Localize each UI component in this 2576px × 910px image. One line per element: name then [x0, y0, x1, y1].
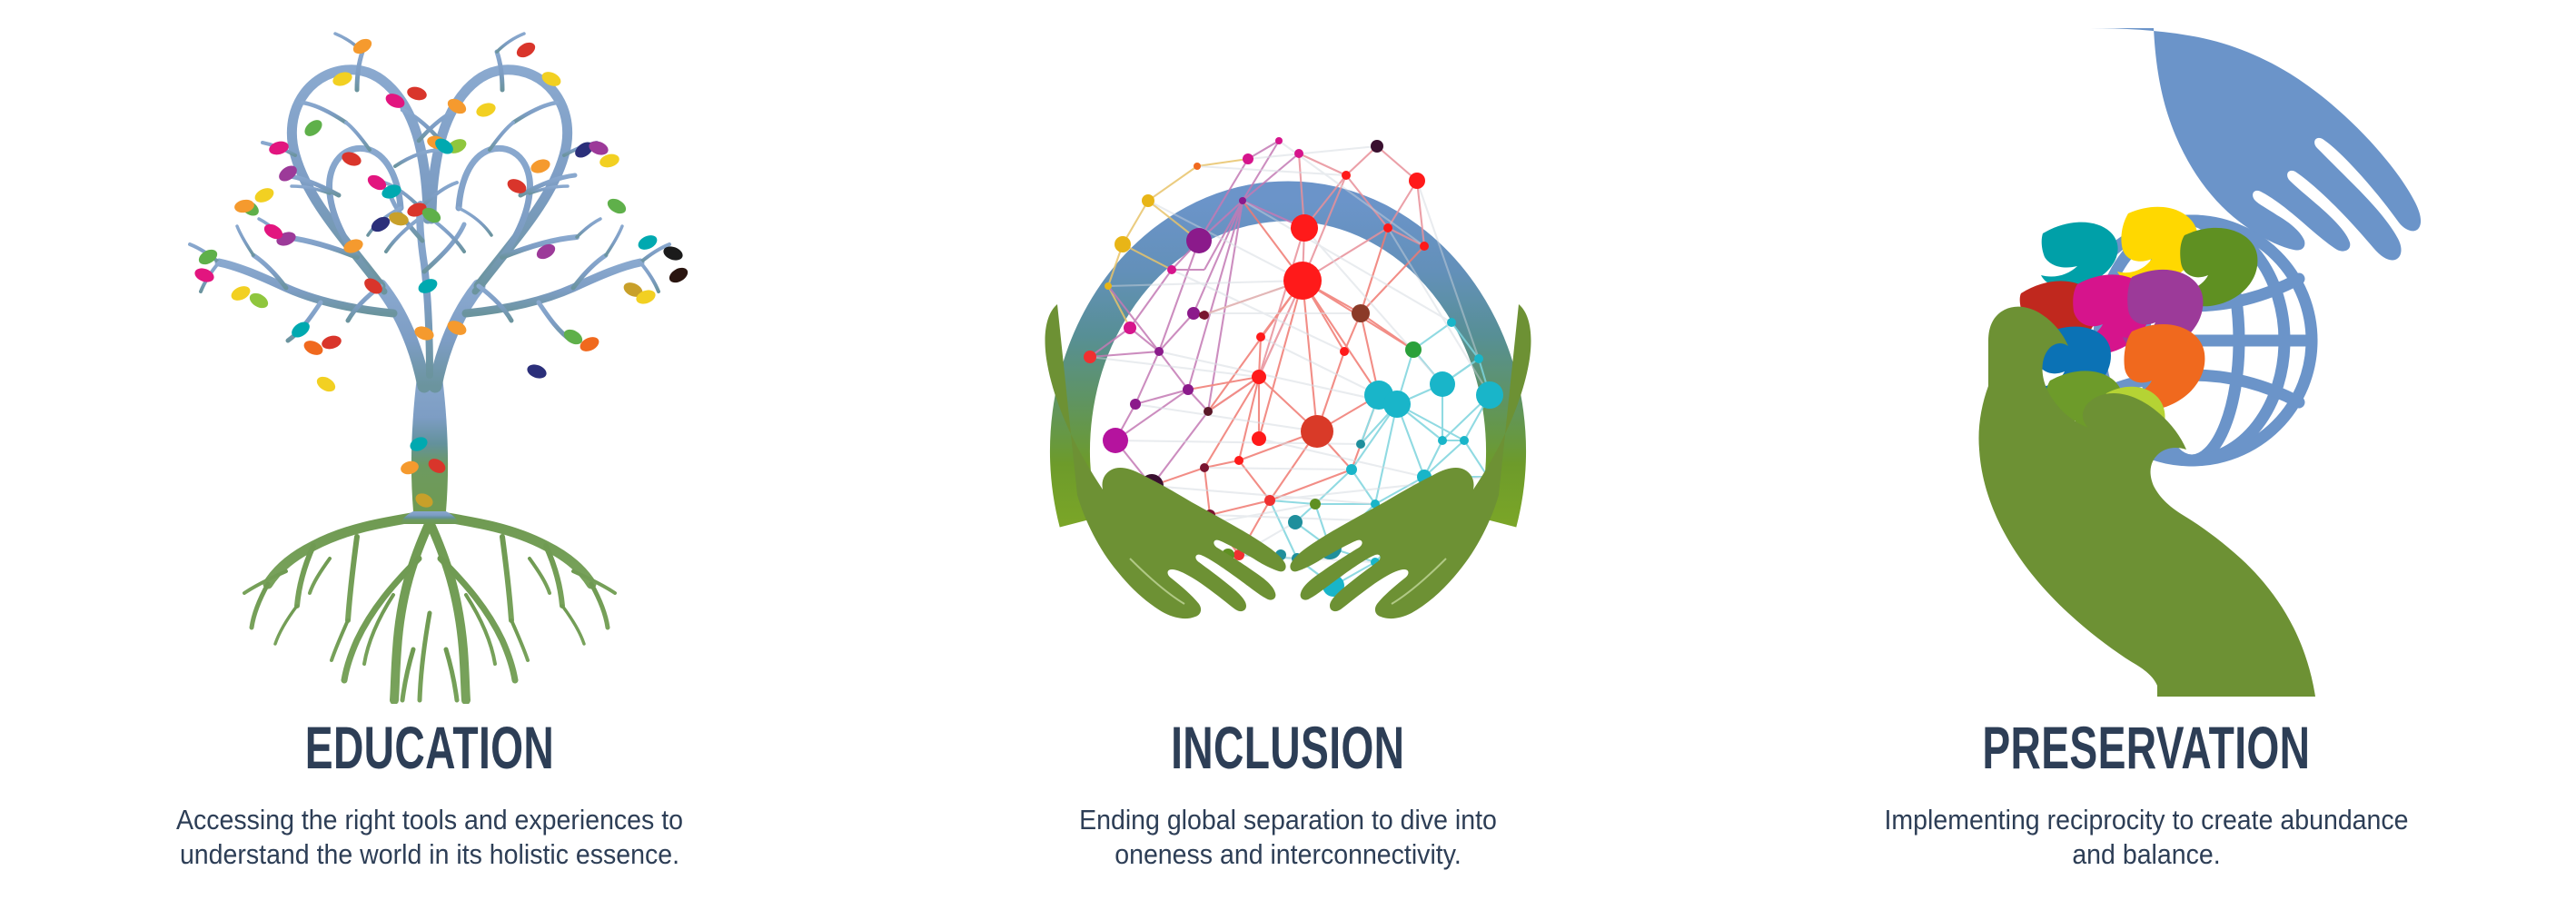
preservation-title-wrap: PRESERVATION	[1718, 717, 2576, 788]
education-title-wrap: EDUCATION	[0, 717, 858, 788]
three-column-values-strip: EDUCATION Accessing the right tools and …	[0, 0, 2576, 910]
education-illustration	[0, 0, 858, 717]
column-education: EDUCATION Accessing the right tools and …	[0, 0, 858, 910]
tree-roots	[244, 504, 615, 704]
hands-holding-network-globe-icon	[970, 14, 1606, 704]
education-description: Accessing the right tools and experience…	[162, 803, 697, 872]
preservation-description: Implementing reciprocity to create abund…	[1871, 803, 2422, 872]
inclusion-title-wrap: INCLUSION	[858, 717, 1717, 788]
education-title: EDUCATION	[304, 717, 553, 777]
preservation-illustration	[1718, 0, 2576, 717]
inclusion-title: INCLUSION	[1171, 717, 1404, 777]
inclusion-description: Ending global separation to dive into on…	[1037, 803, 1539, 872]
column-preservation: PRESERVATION Implementing reciprocity to…	[1718, 0, 2576, 910]
preservation-title: PRESERVATION	[1983, 717, 2311, 777]
heart-shaped-tree-with-roots-icon	[57, 14, 802, 704]
inclusion-illustration	[858, 0, 1717, 717]
column-inclusion: INCLUSION Ending global separation to di…	[858, 0, 1717, 910]
two-hands-cradling-leafy-globe-icon	[1828, 14, 2464, 704]
